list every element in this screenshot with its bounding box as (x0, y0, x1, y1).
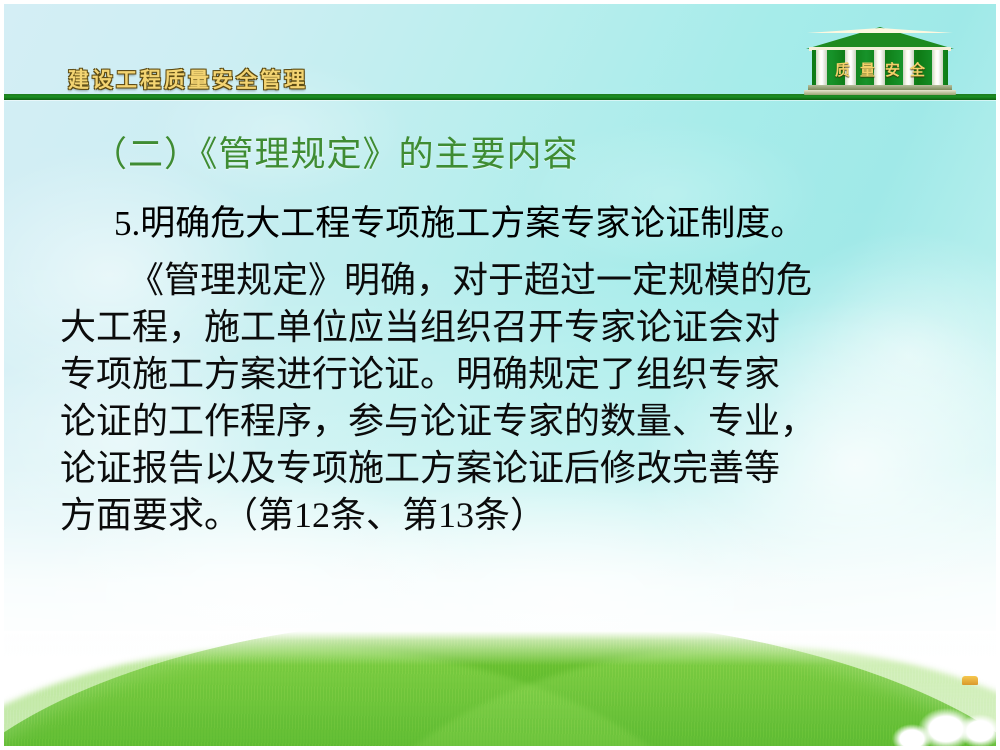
grass-top-fade (4, 631, 996, 746)
slide-body: 5.明确危大工程专项施工方案专家论证制度。 《管理规定》明确，对于超过一定规模的… (60, 206, 950, 539)
logo-label: 质量安全 (814, 59, 946, 80)
body-paragraph: 《管理规定》明确，对于超过一定规模的危 大工程，施工单位应当组织召开专家论证会对… (60, 257, 950, 539)
temple-step-lower (804, 90, 956, 95)
paragraph-line: 专项施工方案进行论证。明确规定了组织专家 (60, 351, 950, 398)
header-title: 建设工程质量安全管理 (68, 64, 308, 94)
ridge-speck-decoration (962, 676, 978, 685)
paragraph-line: 方面要求。（第12条、第13条） (60, 492, 950, 539)
presentation-slide: 建设工程质量安全管理 质量安全 （二）《管理规定》的主要内容 5.明确危大工程专… (0, 0, 1000, 750)
paragraph-line: 《管理规定》明确，对于超过一定规模的危 (60, 257, 950, 304)
quality-safety-temple-logo: 质量安全 (806, 27, 954, 97)
paragraph-line: 大工程，施工单位应当组织召开专家论证会对 (60, 304, 950, 351)
paragraph-line: 论证报告以及专项施工方案论证后修改完善等 (60, 445, 950, 492)
temple-pediment-trim (807, 28, 953, 33)
paragraph-line: 论证的工作程序，参与论证专家的数量、专业， (60, 398, 950, 445)
lead-line: 5.明确危大工程专项施工方案专家论证制度。 (60, 206, 950, 241)
grass-field-decoration (4, 631, 996, 746)
section-heading: （二）《管理规定》的主要内容 (92, 126, 579, 177)
